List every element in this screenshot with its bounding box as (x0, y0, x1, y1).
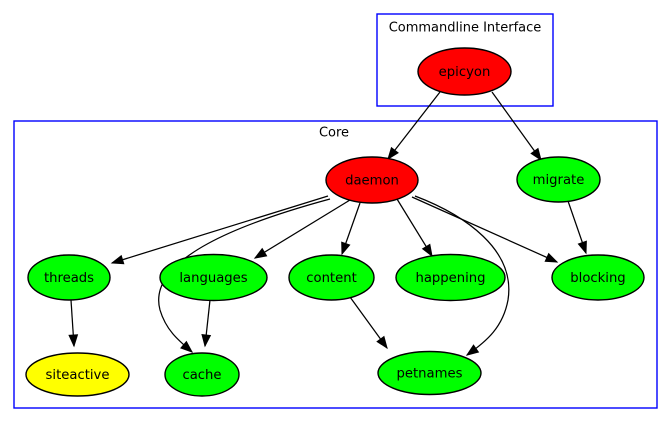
node-label: languages (179, 271, 247, 286)
edge-line (112, 196, 328, 263)
cluster-label: Commandline Interface (389, 21, 542, 36)
node-cache[interactable]: cache (165, 353, 239, 396)
node-siteactive[interactable]: siteactive (26, 353, 129, 396)
node-languages[interactable]: languages (160, 255, 267, 301)
node-happening[interactable]: happening (396, 255, 505, 301)
node-epicyon[interactable]: epicyon (418, 48, 511, 95)
edge-daemon-languages (255, 200, 350, 258)
edge-line (255, 200, 350, 258)
edge-arrowhead (423, 244, 432, 256)
edge-line (412, 197, 557, 262)
edge-languages-cache (202, 300, 210, 346)
edge-arrowhead (202, 335, 210, 346)
node-label: petnames (397, 367, 463, 382)
edge-threads-siteactive (69, 300, 77, 346)
node-label: blocking (570, 271, 625, 286)
edge-arrowhead (112, 256, 124, 264)
edge-line (388, 92, 440, 159)
node-label: siteactive (46, 368, 110, 383)
edge-daemon-blocking (412, 197, 557, 262)
node-daemon[interactable]: daemon (326, 157, 418, 203)
node-petnames[interactable]: petnames (378, 352, 481, 395)
edge-arrowhead (545, 254, 557, 262)
cluster-label: Core (319, 126, 349, 141)
node-threads[interactable]: threads (28, 255, 110, 300)
edge-arrowhead (467, 345, 478, 355)
edge-epicyon-daemon (388, 92, 440, 159)
edge-line (492, 92, 541, 160)
edge-arrowhead (255, 249, 267, 258)
node-label: happening (415, 271, 485, 286)
node-label: daemon (345, 174, 399, 189)
node-label: threads (44, 271, 94, 286)
edge-epicyon-migrate (492, 92, 541, 160)
edge-arrowhead (69, 335, 77, 346)
diagram-canvas: Commandline InterfaceCore epicyondaemonm… (0, 0, 671, 424)
nodes-layer: epicyondaemonmigratethreadslanguagescont… (26, 48, 644, 396)
clusters-layer: Commandline InterfaceCore (14, 14, 657, 408)
edge-arrowhead (578, 241, 586, 253)
edge-arrowhead (531, 149, 541, 160)
edge-arrowhead (388, 148, 398, 159)
edge-arrowhead (342, 242, 350, 254)
edge-daemon-happening (397, 199, 432, 256)
edge-content-petnames (350, 297, 387, 348)
node-blocking[interactable]: blocking (552, 255, 644, 300)
edge-migrate-blocking (568, 201, 586, 253)
node-migrate[interactable]: migrate (517, 157, 600, 202)
node-label: epicyon (439, 65, 491, 80)
node-label: migrate (533, 173, 585, 188)
edge-daemon-threads (112, 196, 328, 264)
edge-arrowhead (377, 337, 387, 348)
node-label: cache (182, 368, 221, 383)
node-content[interactable]: content (289, 255, 374, 300)
edge-daemon-content (342, 203, 360, 254)
graph-svg: Commandline InterfaceCore epicyondaemonm… (0, 0, 671, 424)
node-label: content (306, 271, 357, 286)
